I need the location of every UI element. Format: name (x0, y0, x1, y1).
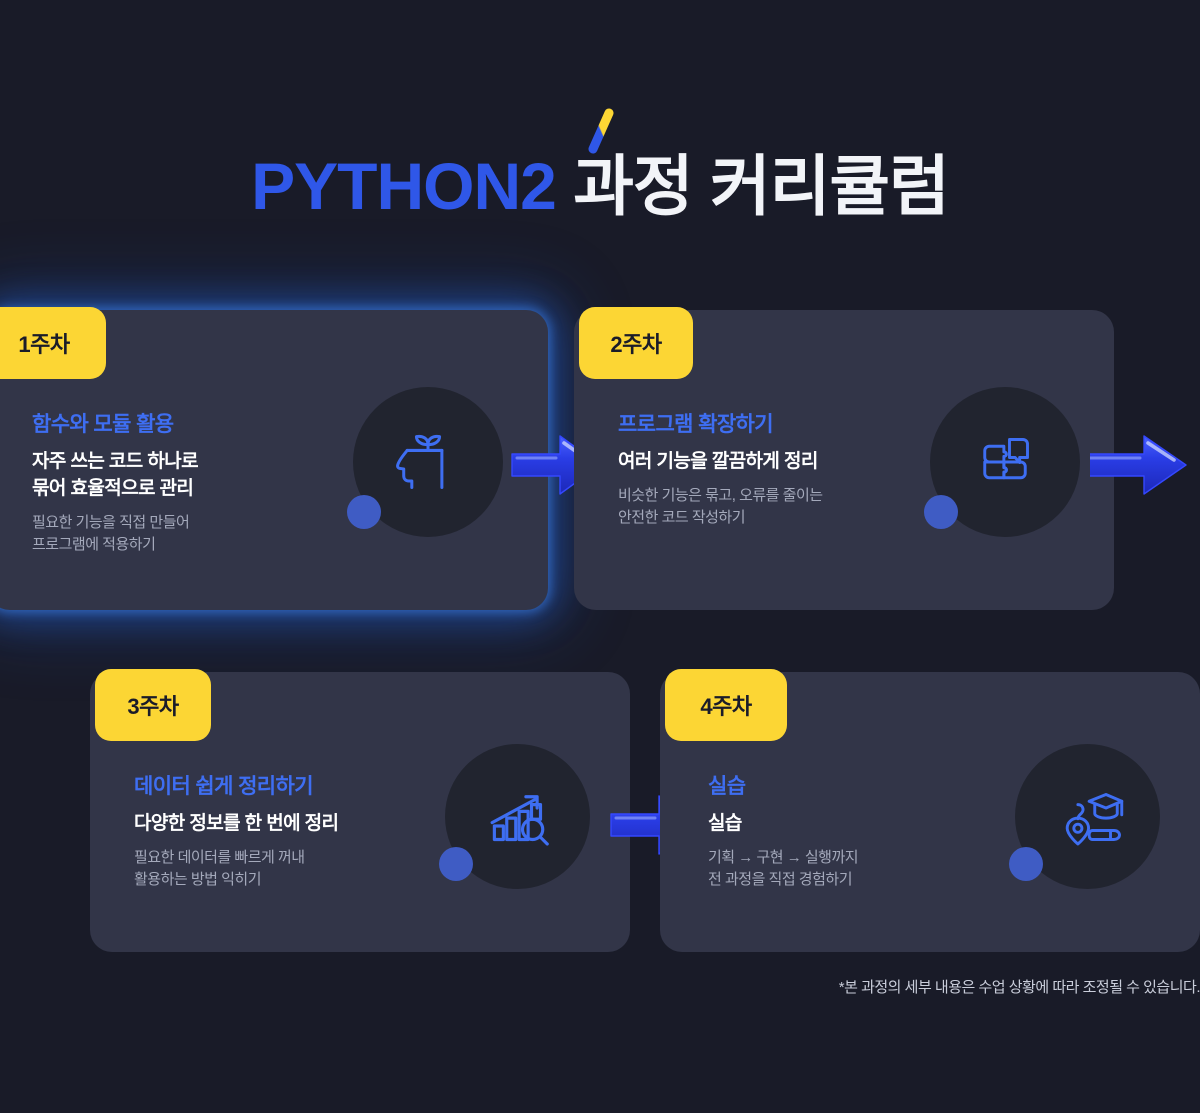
week-desc-1: 필요한 기능을 직접 만들어 프로그램에 적용하기 (32, 512, 332, 557)
bar-chart-search-icon (482, 781, 554, 853)
week-title-1: 함수와 모듈 활용 (32, 408, 332, 438)
week-card-4-text: 실습 실습 기획 → 구현 → 실행까지 전 과정을 직접 경험하기 (708, 770, 1008, 892)
head-sprout-icon (391, 425, 465, 499)
brush-slash-icon (588, 108, 614, 154)
curriculum-infographic: PYTHON2 과정 커리큘럼 1주차 함수와 모듈 활용 자주 쓰는 코드 하… (0, 0, 1200, 1113)
week-card-3[interactable]: 3주차 데이터 쉽게 정리하기 다양한 정보를 한 번에 정리 필요한 데이터를… (90, 672, 630, 952)
graduation-cap-pin-icon (1052, 781, 1124, 853)
week-lead-3: 다양한 정보를 한 번에 정리 (134, 811, 454, 838)
week-badge-label: 1주차 (18, 327, 69, 359)
week-badge-label: 3주차 (127, 689, 178, 721)
icon-accent-dot (347, 495, 381, 529)
week-badge-4: 4주차 (665, 669, 787, 741)
week-lead-2: 여러 기능을 깔끔하게 정리 (618, 449, 948, 476)
footnote: *본 과정의 세부 내용은 수업 상황에 따라 조정될 수 있습니다. (839, 976, 1200, 997)
title-accent: PYTHON2 (251, 149, 556, 223)
week-badge-3: 3주차 (95, 669, 211, 741)
week-badge-label: 2주차 (610, 327, 661, 359)
week-card-2-text: 프로그램 확장하기 여러 기능을 깔끔하게 정리 비슷한 기능은 묶고, 오류를… (618, 408, 948, 530)
puzzle-pieces-icon (969, 426, 1041, 498)
week-card-1[interactable]: 1주차 함수와 모듈 활용 자주 쓰는 코드 하나로 묶어 효율적으로 관리 필… (0, 310, 548, 610)
week-title-3: 데이터 쉽게 정리하기 (134, 770, 454, 800)
icon-accent-dot (1009, 847, 1043, 881)
week-badge-label: 4주차 (700, 689, 751, 721)
week-desc-2: 비슷한 기능은 묶고, 오류를 줄이는 안전한 코드 작성하기 (618, 485, 948, 530)
week-badge-2: 2주차 (579, 307, 693, 379)
icon-accent-dot (439, 847, 473, 881)
week-desc-3: 필요한 데이터를 빠르게 꺼내 활용하는 방법 익히기 (134, 847, 454, 892)
week-title-2: 프로그램 확장하기 (618, 408, 948, 438)
week-icon-wrap-3 (445, 744, 590, 889)
week-card-4[interactable]: 4주차 실습 실습 기획 → 구현 → 실행까지 전 과정을 직접 경험하기 (660, 672, 1200, 952)
week-card-2[interactable]: 2주차 프로그램 확장하기 여러 기능을 깔끔하게 정리 비슷한 기능은 묶고,… (574, 310, 1114, 610)
week-badge-1: 1주차 (0, 307, 106, 379)
week-icon-wrap-4 (1015, 744, 1160, 889)
week-icon-wrap-2 (930, 387, 1080, 537)
title-main: 과정 커리큘럼 (573, 149, 949, 223)
icon-accent-dot (924, 495, 958, 529)
week-title-4: 실습 (708, 770, 1008, 800)
week-lead-1: 자주 쓰는 코드 하나로 묶어 효율적으로 관리 (32, 449, 332, 503)
week-lead-4: 실습 (708, 811, 1008, 838)
week-desc-4: 기획 → 구현 → 실행까지 전 과정을 직접 경험하기 (708, 847, 1008, 892)
page-title: PYTHON2 과정 커리큘럼 (0, 152, 1200, 221)
week-card-1-text: 함수와 모듈 활용 자주 쓰는 코드 하나로 묶어 효율적으로 관리 필요한 기… (32, 408, 332, 557)
arrow-right-icon-2 (1090, 428, 1200, 502)
week-card-3-text: 데이터 쉽게 정리하기 다양한 정보를 한 번에 정리 필요한 데이터를 빠르게… (134, 770, 454, 892)
week-icon-wrap-1 (353, 387, 503, 537)
